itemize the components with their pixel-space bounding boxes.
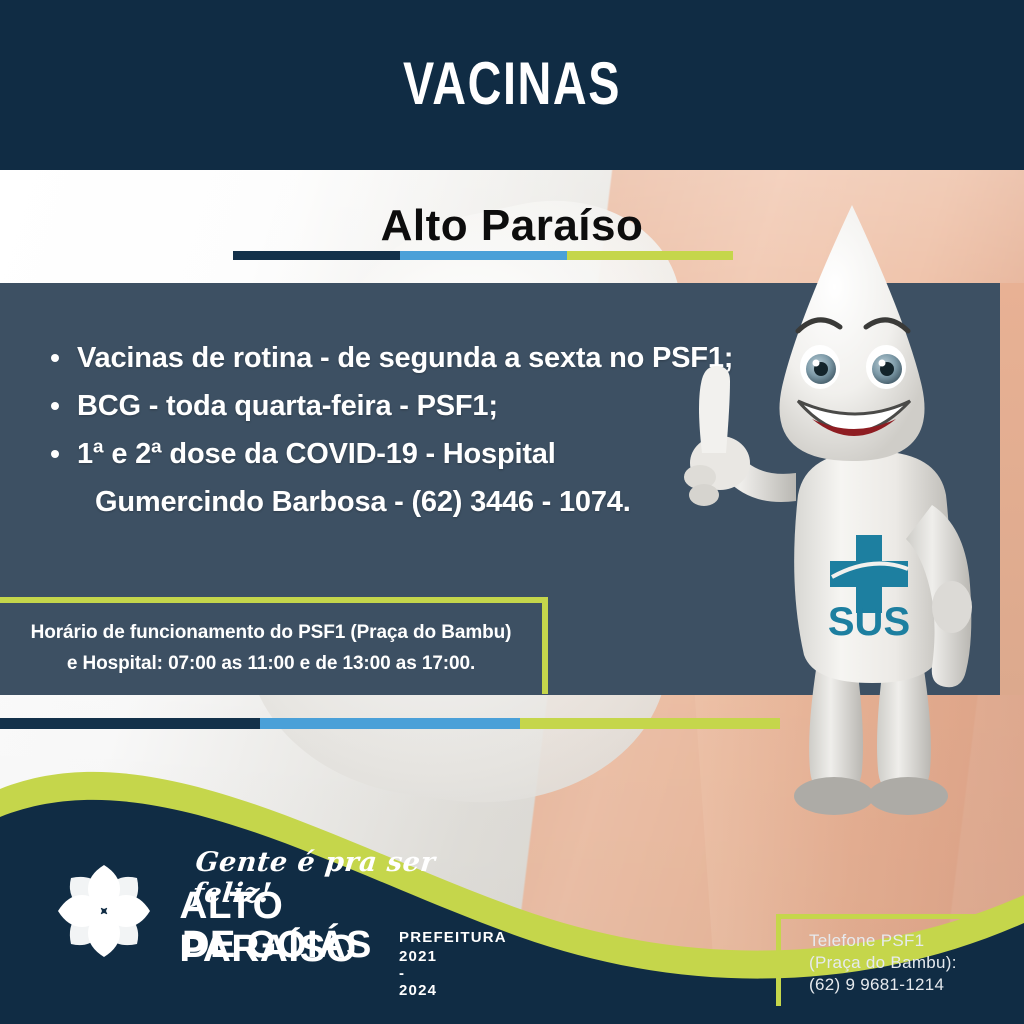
phone-contact-block: Telefone PSF1 (Praça do Bambu): (62) 9 9… — [776, 914, 1024, 1006]
phone-number: (62) 9 9681-1214 — [809, 974, 1024, 996]
opening-hours-line1: Horário de funcionamento do PSF1 (Praça … — [31, 622, 512, 644]
list-item: BCG - toda quarta-feira - PSF1; — [47, 382, 747, 430]
vaccination-poster: VACINAS Alto Paraíso Vacinas de rotina -… — [0, 0, 1024, 1024]
vaccine-list: Vacinas de rotina - de segunda a sexta n… — [47, 334, 747, 526]
page-title: VACINAS — [113, 49, 912, 118]
opening-hours-box: Horário de funcionamento do PSF1 (Praça … — [0, 597, 548, 694]
list-item-text: 1ª e 2ª dose da COVID-19 - Hospital — [77, 438, 556, 470]
list-item: Vacinas de rotina - de segunda a sexta n… — [47, 334, 747, 382]
list-item-text: BCG - toda quarta-feira - PSF1; — [77, 390, 498, 422]
logo-term-years: 2021 - 2024 — [399, 948, 444, 999]
sus-label: SUS — [828, 600, 910, 644]
list-item-continuation: Gumercindo Barbosa - (62) 3446 - 1074. — [77, 478, 747, 526]
city-hall-logo: Gente é pra ser feliz! ALTO PARAÍSO DE G… — [44, 845, 444, 975]
mascot-hand-right — [932, 581, 972, 633]
rule-segment-navy — [233, 251, 400, 260]
opening-hours-line2: e Hospital: 07:00 as 11:00 e de 13:00 as… — [67, 653, 475, 675]
flower-emblem-icon — [44, 851, 164, 971]
logo-name-line2: DE GOIÁS — [182, 924, 372, 967]
rule-segment-blue — [260, 718, 520, 729]
logo-prefeitura-label: PREFEITURA — [399, 929, 507, 946]
list-item-text: Vacinas de rotina - de segunda a sexta n… — [77, 342, 733, 374]
header-band: VACINAS — [0, 0, 1024, 170]
rule-segment-navy — [0, 718, 260, 729]
ze-gotinha-mascot: SUS — [680, 195, 1024, 815]
phone-label-line2: (Praça do Bambu): — [809, 952, 1024, 974]
rule-segment-blue — [400, 251, 567, 260]
phone-label-line1: Telefone PSF1 — [809, 930, 1024, 952]
subtitle-tricolor-rule — [233, 251, 733, 260]
list-item: 1ª e 2ª dose da COVID-19 - Hospital Gume… — [47, 430, 747, 526]
bottom-tricolor-rule — [0, 718, 780, 729]
